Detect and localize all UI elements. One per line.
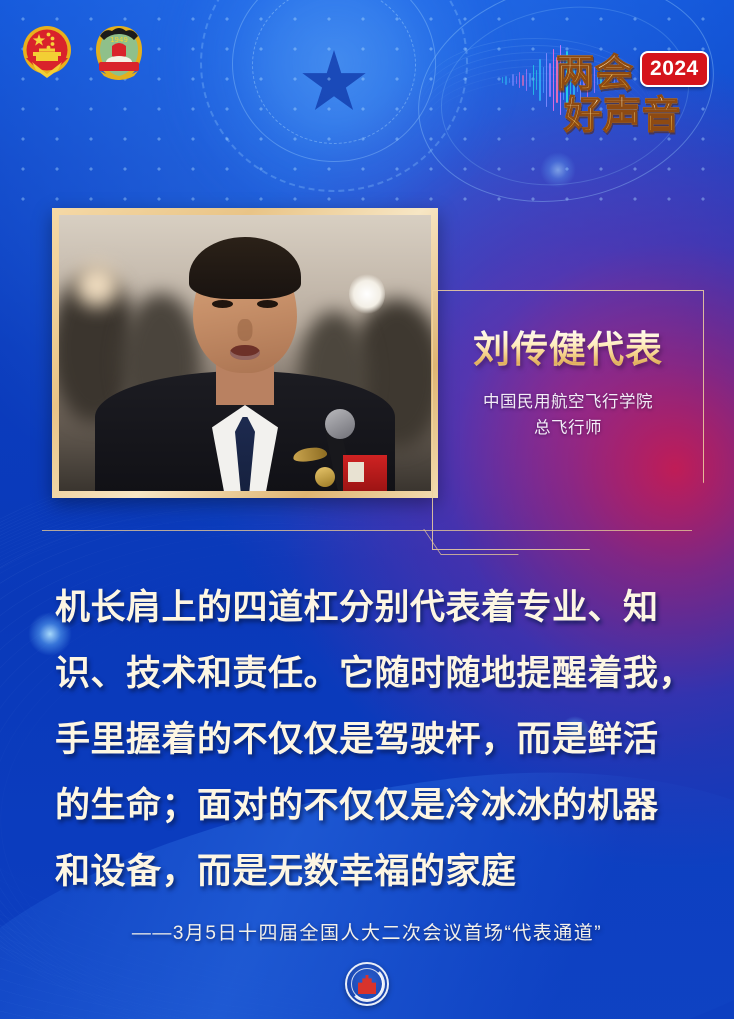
quote-line: 识、技术和责任。它随时随地提醒着我，: [55, 641, 681, 707]
poster-canvas: 1949 两会 2024 好声音: [0, 0, 734, 1019]
header-emblems: 1949: [18, 22, 148, 84]
speaker-title-line-1: 中国民用航空飞行学院: [432, 390, 704, 416]
speaker-name: 刘传健代表: [432, 330, 704, 371]
quote-line: 机长肩上的四道杠分别代表着专业、知: [55, 575, 681, 641]
quote-line: 手里握着的不仅仅是驾驶杆，而是鲜活: [55, 707, 681, 773]
waveform-bar: [549, 63, 550, 97]
delegate-credential-badge: [343, 455, 387, 491]
waveform-bar: [526, 69, 527, 91]
nose: [238, 319, 253, 341]
tiananmen-circular-emblem-icon: [345, 962, 389, 1006]
gold-divider: [42, 530, 692, 560]
ceiling-ring-outer: [200, 0, 468, 192]
portrait-photo: [59, 215, 431, 491]
quote-line: 和设备，而是无数幸福的家庭: [55, 839, 681, 905]
logo-text-lianghui: 两会: [556, 55, 634, 93]
logo-line-2: 好声音: [564, 97, 681, 135]
speaker-title: 中国民用航空飞行学院 总飞行师: [432, 390, 704, 441]
glow-dot-header: [540, 152, 576, 188]
waveform-bar: [533, 65, 534, 95]
waveform-bar: [516, 76, 517, 84]
ceiling-ring-mid: [232, 0, 436, 162]
waveform-bar: [529, 73, 530, 87]
background-light: [349, 273, 385, 315]
waveform-bar: [522, 75, 523, 86]
year-badge: 2024: [640, 51, 709, 87]
portrait-frame: [52, 208, 438, 498]
ceiling-ring-inner: [252, 0, 416, 144]
great-hall-ceiling-glow: [150, 0, 520, 242]
divider-bar: [42, 530, 692, 560]
logo-text-haoshengyin: 好声音: [564, 95, 681, 137]
hair: [189, 237, 301, 299]
cppcc-emblem-icon: 1949: [90, 22, 148, 84]
speaker-title-line-2: 总飞行师: [432, 416, 704, 442]
waveform-bar: [553, 49, 554, 111]
quote-text: 机长肩上的四道杠分别代表着专业、知识、技术和责任。它随时随地提醒着我，手里握着的…: [55, 575, 681, 905]
microphone-head-icon: [325, 409, 355, 439]
logo-line-1: 两会 2024: [556, 55, 709, 93]
waveform-bar: [536, 70, 537, 90]
divider-notch: [423, 529, 519, 555]
waveform-bar: [539, 59, 540, 101]
mouth: [230, 345, 260, 360]
waveform-bar: [509, 78, 510, 83]
national-emblem-of-china-icon: [18, 22, 76, 84]
waveform-bar: [519, 72, 520, 88]
waveform-bar: [505, 76, 506, 85]
waveform-bar: [543, 67, 544, 93]
source-attribution: ——3月5日十四届全国人大二次会议首场“代表通道”: [0, 918, 734, 945]
quote-line: 的生命；面对的不仅仅是冷冰冰的机器: [55, 773, 681, 839]
waveform-bar: [546, 53, 547, 107]
waveform-bar: [502, 77, 503, 83]
waveform-bar: [512, 74, 513, 86]
program-logo: 两会 2024 好声音: [556, 55, 716, 155]
speaker-info-panel: 刘传健代表 中国民用航空飞行学院 总飞行师: [432, 290, 704, 550]
ceiling-star-icon: [301, 50, 367, 116]
svg-text:1949: 1949: [110, 36, 128, 44]
gold-emblem-pin: [315, 467, 335, 487]
